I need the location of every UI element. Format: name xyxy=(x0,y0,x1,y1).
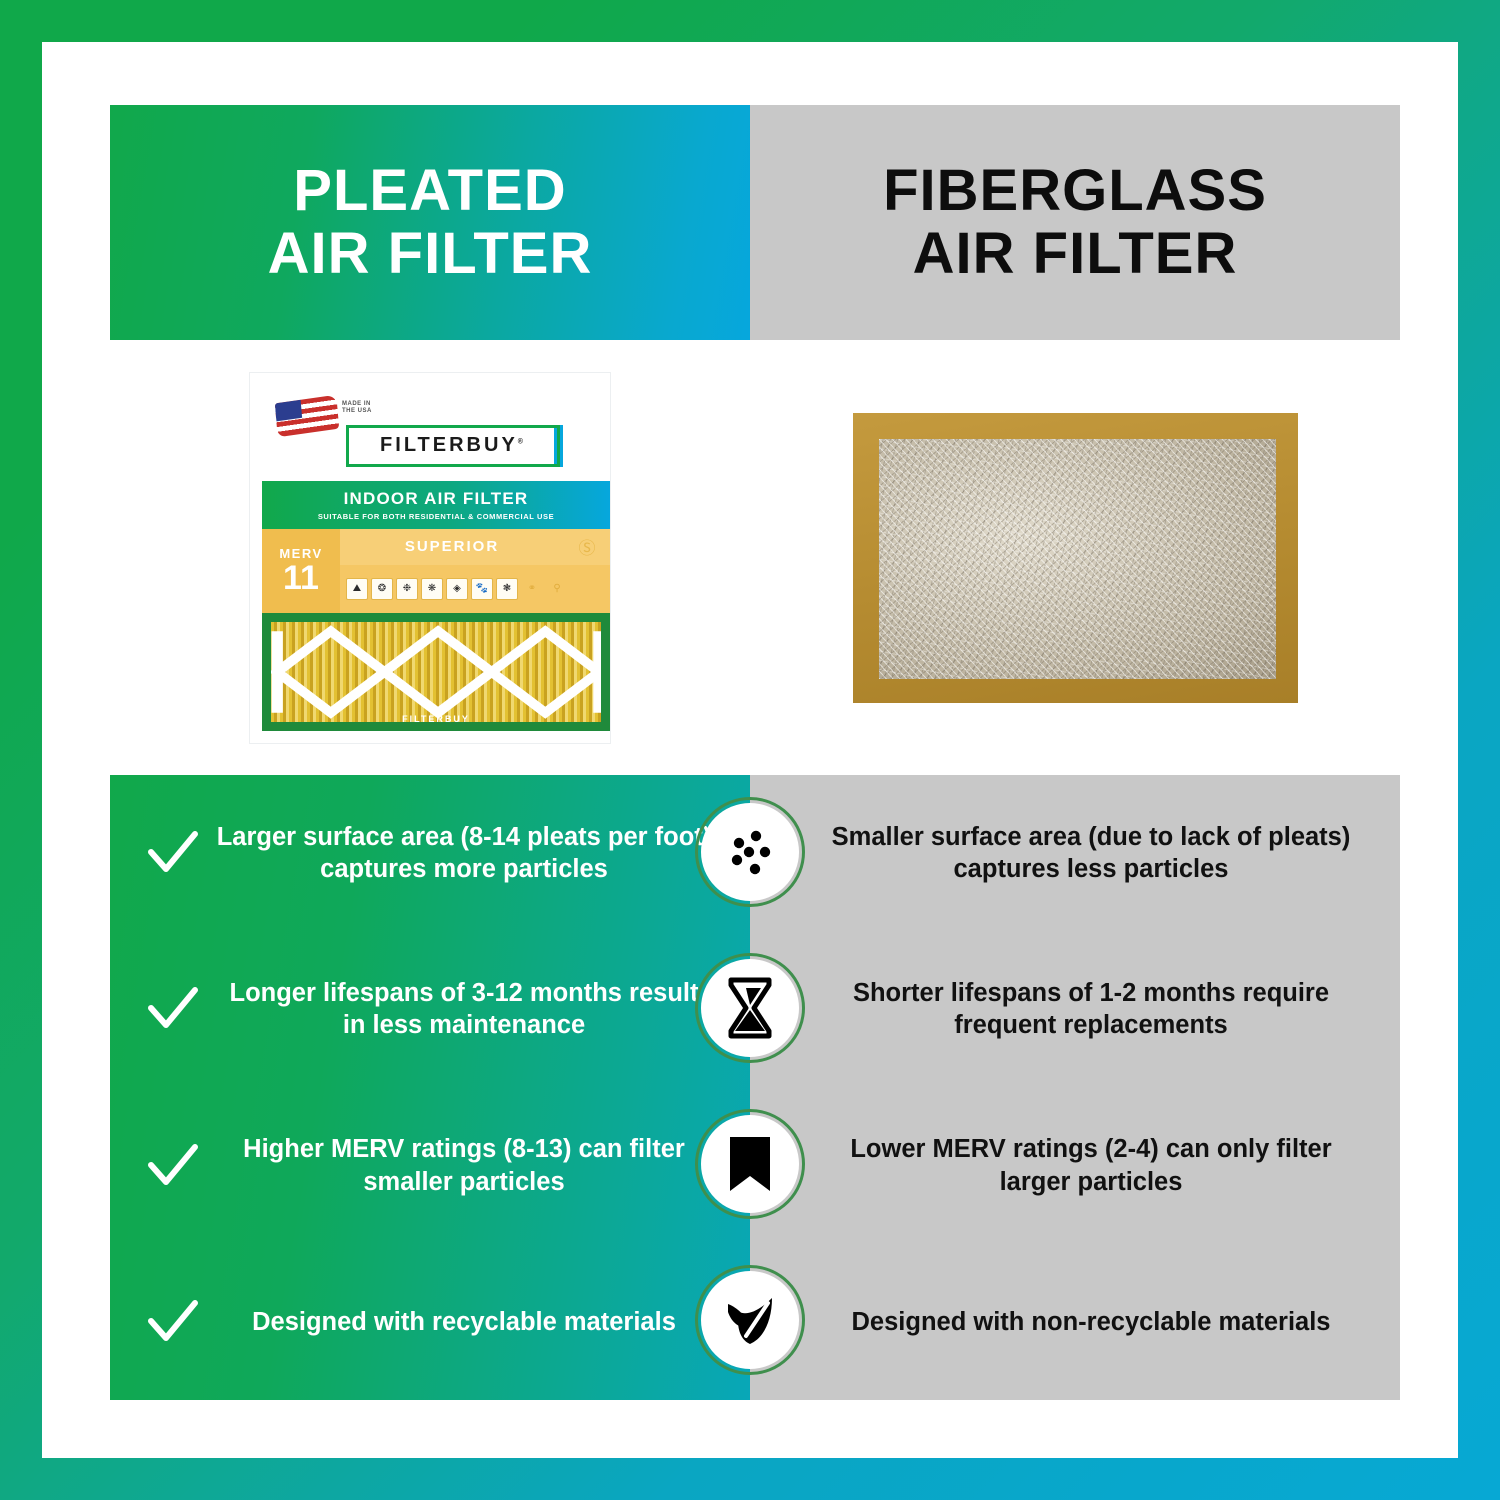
drawback-text: Designed with non-recyclable materials xyxy=(822,1306,1360,1339)
filterbuy-package-image: MADE IN THE USA FILTERBUY® INDOOR AIR FI… xyxy=(250,373,610,743)
benefit-text: Larger surface area (8-14 pleats per foo… xyxy=(216,821,712,886)
row-icon-hourglass xyxy=(695,953,805,1063)
pet-dander-icon: 🐾 xyxy=(471,578,493,600)
checkmark-icon xyxy=(144,1293,202,1351)
row-icon-bookmark xyxy=(695,1109,805,1219)
package-band-title: INDOOR AIR FILTER xyxy=(344,489,529,509)
smog-icon: ⚲ xyxy=(546,578,568,600)
mold-spore-icon: ❋ xyxy=(421,578,443,600)
benefit-text: Designed with recyclable materials xyxy=(216,1306,712,1339)
made-in-usa-label: MADE IN THE USA xyxy=(342,401,372,416)
drawback-row: Shorter lifespans of 1-2 months require … xyxy=(750,931,1400,1087)
drawback-row: Lower MERV ratings (2-4) can only filter… xyxy=(750,1088,1400,1244)
infographic-canvas: PLEATED AIR FILTER FIBERGLASS AIR FILTER… xyxy=(110,105,1400,1400)
drawback-text: Lower MERV ratings (2-4) can only filter… xyxy=(822,1133,1360,1198)
benefit-row: Larger surface area (8-14 pleats per foo… xyxy=(110,775,750,931)
smoke-icon: ◈ xyxy=(446,578,468,600)
tier-label: SUPERIOR xyxy=(340,538,564,555)
brand-logo-text: FILTERBUY® xyxy=(380,434,526,457)
bookmark-icon xyxy=(701,1115,799,1213)
header-title-fiberglass: FIBERGLASS AIR FILTER xyxy=(883,160,1267,285)
header-pleated: PLEATED AIR FILTER xyxy=(110,105,750,340)
particles-icon xyxy=(701,803,799,901)
benefit-row: Longer lifespans of 3-12 months result i… xyxy=(110,931,750,1087)
dust-icon: ⛰ xyxy=(346,578,368,600)
registered-mark: ® xyxy=(518,438,526,445)
pollen-icon: ❉ xyxy=(396,578,418,600)
bacteria-icon: ❂ xyxy=(371,578,393,600)
checkmark-icon xyxy=(144,824,202,882)
diamond-support-grid xyxy=(271,622,601,722)
drawback-row: Smaller surface area (due to lack of ple… xyxy=(750,775,1400,931)
checkmark-icon xyxy=(144,980,202,1038)
lint-icon: ⚭ xyxy=(521,578,543,600)
pleated-benefits-column: Larger surface area (8-14 pleats per foo… xyxy=(110,775,750,1400)
drawback-text: Shorter lifespans of 1-2 months require … xyxy=(822,977,1360,1042)
tier-row: SUPERIOR Ⓢ xyxy=(340,529,610,565)
filter-media-brand: FILTERBUY xyxy=(271,714,601,722)
row-icon-particles xyxy=(695,797,805,907)
merv-badge: MERV 11 xyxy=(262,529,340,613)
product-image-row: MADE IN THE USA FILTERBUY® INDOOR AIR FI… xyxy=(110,340,1400,775)
fiberglass-drawbacks-column: Smaller surface area (due to lack of ple… xyxy=(750,775,1400,1400)
usa-flag-icon xyxy=(275,394,339,437)
pleats-texture: FILTERBUY xyxy=(271,622,601,722)
pleated-filter-media: FILTERBUY xyxy=(262,613,610,731)
hourglass-icon xyxy=(701,959,799,1057)
row-icon-leaf xyxy=(695,1265,805,1375)
fiberglass-product-cell xyxy=(750,340,1400,775)
leaf-icon xyxy=(701,1271,799,1369)
header-title-pleated: PLEATED AIR FILTER xyxy=(268,160,593,285)
feature-icon-strip: ⛰ ❂ ❉ ❋ ◈ 🐾 ❃ ⚭ ⚲ xyxy=(340,565,610,613)
drawback-row: Designed with non-recyclable materials xyxy=(750,1244,1400,1400)
merv-value: 11 xyxy=(283,561,319,595)
package-green-band: INDOOR AIR FILTER SUITABLE FOR BOTH RESI… xyxy=(262,481,610,529)
header-fiberglass: FIBERGLASS AIR FILTER xyxy=(750,105,1400,340)
dust-mite-icon: ❃ xyxy=(496,578,518,600)
package-merv-row: MERV 11 SUPERIOR Ⓢ ⛰ ❂ ❉ ❋ ◈ xyxy=(262,529,610,613)
merv-right-block: SUPERIOR Ⓢ ⛰ ❂ ❉ ❋ ◈ 🐾 ❃ ⚭ ⚲ xyxy=(340,529,610,613)
package-header: MADE IN THE USA FILTERBUY® xyxy=(262,393,610,475)
fiberglass-mesh-texture xyxy=(879,439,1276,679)
benefit-text: Longer lifespans of 3-12 months result i… xyxy=(216,977,712,1042)
header-band: PLEATED AIR FILTER FIBERGLASS AIR FILTER xyxy=(110,105,1400,340)
pleated-product-cell: MADE IN THE USA FILTERBUY® INDOOR AIR FI… xyxy=(110,340,750,775)
benefit-row: Higher MERV ratings (8-13) can filter sm… xyxy=(110,1088,750,1244)
ul-certification-icon: Ⓢ xyxy=(564,529,610,565)
fiberglass-filter-image xyxy=(853,413,1298,703)
drawback-text: Smaller surface area (due to lack of ple… xyxy=(822,821,1360,886)
benefit-row: Designed with recyclable materials xyxy=(110,1244,750,1400)
benefit-text: Higher MERV ratings (8-13) can filter sm… xyxy=(216,1133,712,1198)
brand-logo-box: FILTERBUY® xyxy=(346,425,560,467)
brand-name: FILTERBUY xyxy=(380,434,518,456)
checkmark-icon xyxy=(144,1137,202,1195)
package-band-subtitle: SUITABLE FOR BOTH RESIDENTIAL & COMMERCI… xyxy=(318,512,554,521)
